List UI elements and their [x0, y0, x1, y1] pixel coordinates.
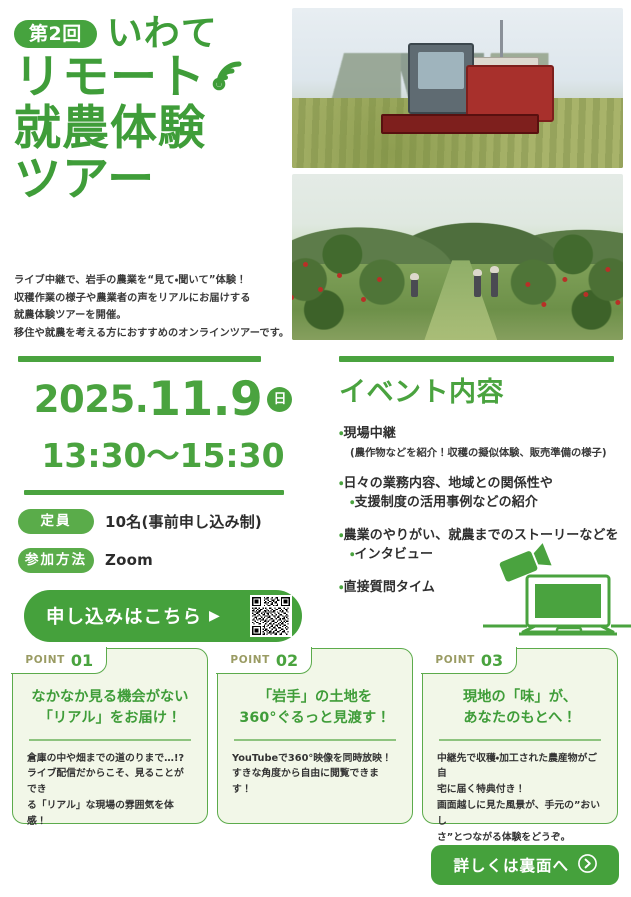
harvester-cab: [408, 43, 473, 114]
point-card-body: 倉庫の中や畑までの道のりまで…!? ライブ配信だからこそ、見ることができ る「リ…: [27, 751, 193, 830]
point-label: POINT: [25, 654, 64, 666]
orchard-worker: [411, 279, 418, 297]
point-card-03: POINT 03 現地の「味」が、 あなたのもとへ！ 中継先で収穫・加工された農…: [422, 648, 618, 824]
event-date-monthday: 11.9: [148, 372, 262, 427]
point-card-divider: [29, 739, 191, 740]
point-card-heading: なかなか見る機会がない 「リアル」をお届け！: [27, 687, 193, 728]
photo-combine-harvester: [292, 8, 623, 168]
event-day-of-week: 日: [267, 387, 292, 412]
point-label: POINT: [435, 654, 474, 666]
harvester-header-bar: [381, 114, 538, 134]
point-card-heading: 現地の「味」が、 あなたのもとへ！: [437, 687, 603, 728]
point-number: 01: [71, 651, 93, 670]
apple-tree-row-right: [504, 204, 623, 330]
apple-tree-row-left: [292, 204, 411, 330]
edition-badge: 第2回: [14, 20, 97, 49]
title-line-4-row: ツアー: [14, 154, 314, 205]
info-divider: [24, 490, 284, 495]
point-heading-line: 360°ぐるっと見渡す！: [232, 708, 398, 729]
content-item-main: 日々の業務内容、地域との関係性や: [339, 474, 619, 494]
title-line-3: 就農体験: [14, 103, 206, 154]
lead-paragraph: ライブ中継で、岩手の農業を“見て・聞いて”体験！ 収穫作業の様子や農業者の声をリ…: [14, 272, 296, 342]
point-body-line: 倉庫の中や畑までの道のりまで…!?: [27, 751, 193, 767]
point-card-body: YouTubeで360°映像を同時放映！ すきな角度から自由に閲覧できます！: [232, 751, 398, 799]
point-heading-line: 「リアル」をお届け！: [27, 708, 193, 729]
content-heading: イベント内容: [339, 370, 619, 409]
point-card-divider: [439, 739, 601, 740]
section-rule-right: [339, 356, 614, 362]
point-heading-line: あなたのもとへ！: [437, 708, 603, 729]
title-line-4: ツアー: [14, 154, 155, 205]
point-body-line: すきな角度から自由に閲覧できます！: [232, 766, 398, 798]
lead-line: 移住や就農を考える方におすすめのオンラインツアーです。: [14, 325, 296, 343]
point-number: 02: [276, 651, 298, 670]
apply-button[interactable]: 申し込みはこちら ▶: [24, 590, 302, 642]
method-value: Zoom: [105, 551, 153, 569]
hero-section: 第2回 いわて リモート 就農体験: [0, 0, 631, 348]
chevron-right-icon: [578, 854, 597, 877]
point-cards: POINT 01 なかなか見る機会がない 「リアル」をお届け！ 倉庫の中や畑まで…: [12, 648, 619, 824]
title-line-2: リモート: [14, 52, 206, 103]
event-time: 13:30〜15:30: [18, 429, 308, 477]
point-card-tab: POINT 02: [216, 647, 312, 674]
point-body-line: 宅に届く特典付き！: [437, 782, 603, 798]
point-card-body: 中継先で収穫・加工された農産物がご自 宅に届く特典付き！ 画面越しに見た風景が、…: [437, 751, 603, 846]
content-item-main: 現場中継: [339, 424, 619, 444]
point-card-tab: POINT 01: [11, 647, 107, 674]
point-heading-line: 現地の「味」が、: [437, 687, 603, 708]
content-item: 日々の業務内容、地域との関係性や 支援制度の活用事例などの紹介: [339, 474, 619, 513]
point-heading-line: なかなか見る機会がない: [27, 687, 193, 708]
more-info-label: 詳しくは裏面へ: [453, 854, 569, 876]
point-number: 03: [481, 651, 503, 670]
combine-harvester-shape: [381, 37, 573, 136]
capacity-label: 定員: [18, 509, 94, 534]
point-body-line: さ”とつながる体験をどうぞ。: [437, 830, 603, 846]
point-body-line: 画面越しに見た風景が、手元の”おいし: [437, 798, 603, 830]
point-card-02: POINT 02 「岩手」の土地を 360°ぐるっと見渡す！ YouTubeで3…: [217, 648, 413, 824]
hero-photo-stack: [292, 8, 623, 340]
event-info-column: 2025. 11.9 日 13:30〜15:30 定員 10名(事前申し込み制)…: [18, 372, 308, 642]
info-row-capacity: 定員 10名(事前申し込み制): [18, 509, 308, 534]
more-info-button[interactable]: 詳しくは裏面へ: [431, 845, 619, 885]
event-content-column: イベント内容 現場中継 (農作物などを紹介！収穫の擬似体験、販売準備の様子) 日…: [339, 370, 619, 610]
point-body-line: YouTubeで360°映像を同時放映！: [232, 751, 398, 767]
title-line-3-row: 就農体験: [14, 103, 314, 154]
point-card-divider: [234, 739, 396, 740]
point-body-line: ライブ配信だからこそ、見ることができ: [27, 766, 193, 798]
apply-button-label: 申し込みはこちら: [46, 603, 202, 629]
play-arrow-icon: ▶: [209, 608, 220, 624]
point-body-line: る「リアル」な現場の雰囲気を体感！: [27, 798, 193, 830]
lead-line: 収穫作業の様子や農業者の声をリアルにお届けする: [14, 290, 296, 308]
laptop-video-icon: [483, 542, 631, 646]
point-body-line: 中継先で収穫・加工された農産物がご自: [437, 751, 603, 783]
point-card-tab: POINT 03: [421, 647, 517, 674]
qr-code[interactable]: [250, 595, 292, 637]
flyer-page: 第2回 いわて リモート 就農体験: [0, 0, 631, 897]
point-heading-line: 「岩手」の土地を: [232, 687, 398, 708]
orchard-worker: [474, 275, 481, 297]
photo-apple-orchard: [292, 174, 623, 340]
method-label: 参加方法: [18, 548, 94, 573]
orchard-worker: [491, 272, 498, 297]
event-date: 2025. 11.9 日: [18, 372, 308, 427]
lead-line: ライブ中継で、岩手の農業を“見て・聞いて”体験！: [14, 272, 296, 290]
title-first-row: 第2回 いわて: [14, 16, 314, 52]
section-rule-left: [18, 356, 261, 362]
point-card-01: POINT 01 なかなか見る機会がない 「リアル」をお届け！ 倉庫の中や畑まで…: [12, 648, 208, 824]
title-line-2-row: リモート: [14, 52, 314, 103]
wifi-icon: [208, 52, 248, 103]
event-date-year: 2025.: [34, 378, 149, 421]
content-item-sub: (農作物などを紹介！収穫の擬似体験、販売準備の様子): [339, 446, 619, 461]
lead-line: 就農体験ツアーを開催。: [14, 307, 296, 325]
title-block: 第2回 いわて リモート 就農体験: [14, 16, 314, 206]
title-line-1: いわて: [107, 16, 218, 52]
info-row-method: 参加方法 Zoom: [18, 548, 308, 573]
point-label: POINT: [230, 654, 269, 666]
capacity-value: 10名(事前申し込み制): [105, 511, 262, 532]
content-item-main-cont: 支援制度の活用事例などの紹介: [339, 493, 619, 513]
point-card-heading: 「岩手」の土地を 360°ぐるっと見渡す！: [232, 687, 398, 728]
content-item: 現場中継 (農作物などを紹介！収穫の擬似体験、販売準備の様子): [339, 424, 619, 461]
